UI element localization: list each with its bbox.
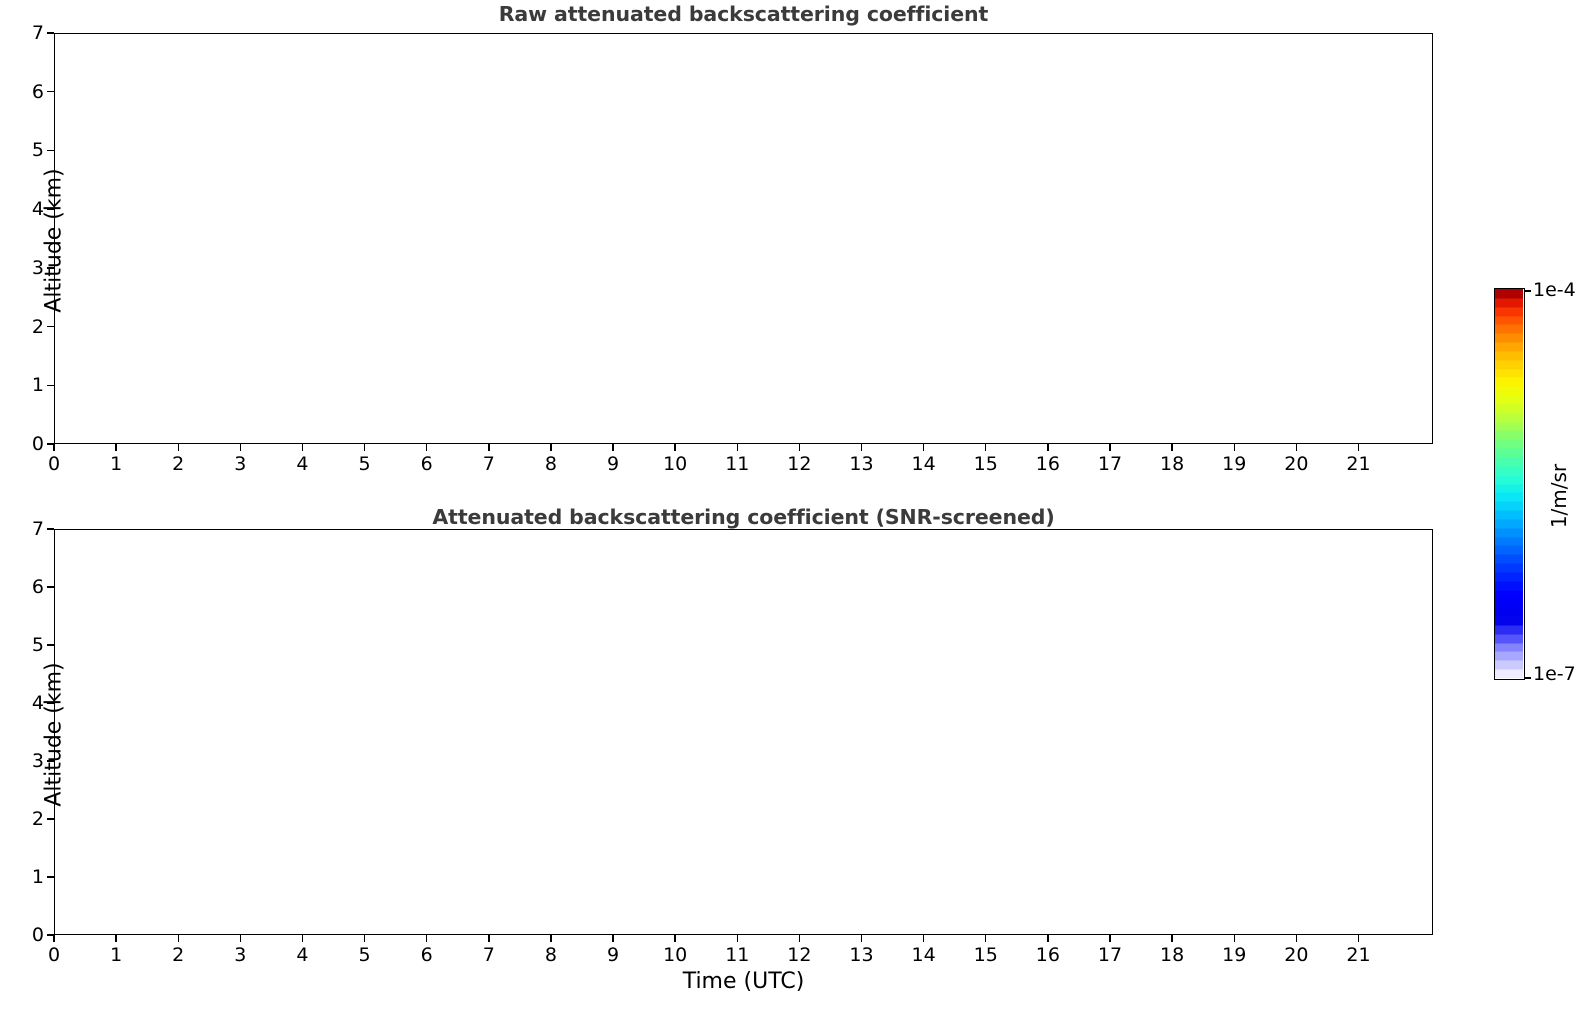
x-tick-1-2 [178,935,179,942]
x-tick-1-3 [240,935,241,942]
x-tick-label-0-10: 10 [663,453,687,475]
y-tick-label-1-0: 0 [8,924,44,946]
x-tick-0-14 [923,444,924,451]
y-axis-label-screened: Altitude (km) [42,625,67,845]
y-tick-label-1-5: 5 [8,634,44,656]
colorbar-max-label: 1e-4 [1533,279,1576,301]
x-tick-0-19 [1234,444,1235,451]
x-tick-0-21 [1358,444,1359,451]
y-tick-1-4 [47,702,54,703]
x-tick-0-2 [178,444,179,451]
colorbar-tick-min [1525,677,1531,679]
panel-title-screened: Attenuated backscattering coefficient (S… [54,505,1433,529]
x-tick-label-0-20: 20 [1284,453,1308,475]
x-tick-label-1-21: 21 [1346,944,1370,966]
x-tick-1-15 [985,935,986,942]
colorbar[interactable] [1494,288,1525,680]
heatmap-panel-raw[interactable] [54,33,1433,444]
x-tick-label-0-3: 3 [234,453,246,475]
x-tick-1-9 [612,935,613,942]
x-tick-label-0-1: 1 [110,453,122,475]
y-tick-label-1-3: 3 [8,750,44,772]
x-tick-0-18 [1171,444,1172,451]
x-tick-0-11 [737,444,738,451]
y-tick-0-5 [47,150,54,151]
x-tick-label-0-0: 0 [48,453,60,475]
x-tick-label-1-20: 20 [1284,944,1308,966]
y-tick-0-2 [47,326,54,327]
x-tick-1-18 [1171,935,1172,942]
x-tick-1-0 [53,935,54,942]
x-tick-label-1-15: 15 [974,944,998,966]
x-tick-label-1-19: 19 [1222,944,1246,966]
x-tick-label-1-4: 4 [296,944,308,966]
x-tick-0-3 [240,444,241,451]
x-tick-label-1-8: 8 [545,944,557,966]
x-tick-label-1-12: 12 [787,944,811,966]
x-tick-label-0-8: 8 [545,453,557,475]
x-tick-label-0-15: 15 [974,453,998,475]
colorbar-min-label: 1e-7 [1533,663,1576,685]
y-tick-0-1 [47,385,54,386]
y-tick-label-0-3: 3 [8,257,44,279]
x-tick-0-17 [1109,444,1110,451]
x-tick-label-0-16: 16 [1036,453,1060,475]
x-tick-label-0-19: 19 [1222,453,1246,475]
x-tick-label-0-5: 5 [359,453,371,475]
y-tick-label-0-6: 6 [8,81,44,103]
x-tick-0-9 [612,444,613,451]
x-tick-label-1-10: 10 [663,944,687,966]
x-tick-1-10 [674,935,675,942]
y-tick-label-1-2: 2 [8,808,44,830]
x-tick-1-7 [488,935,489,942]
x-tick-0-4 [302,444,303,451]
x-tick-label-0-21: 21 [1346,453,1370,475]
y-tick-label-1-4: 4 [8,692,44,714]
colorbar-tick-max [1525,290,1531,292]
x-tick-label-0-11: 11 [725,453,749,475]
x-tick-label-1-3: 3 [234,944,246,966]
y-tick-label-0-2: 2 [8,316,44,338]
y-tick-1-1 [47,876,54,877]
x-tick-label-0-2: 2 [172,453,184,475]
heatmap-canvas-raw [55,34,1431,442]
x-tick-1-14 [923,935,924,942]
panel-title-raw: Raw attenuated backscattering coefficien… [54,2,1433,26]
y-tick-0-3 [47,267,54,268]
x-tick-1-6 [426,935,427,942]
y-tick-label-0-5: 5 [8,139,44,161]
x-tick-1-1 [115,935,116,942]
heatmap-canvas-screened [55,530,1431,933]
x-tick-label-1-11: 11 [725,944,749,966]
x-tick-label-1-13: 13 [849,944,873,966]
y-tick-0-0 [47,443,54,444]
y-tick-1-0 [47,934,54,935]
x-tick-label-0-4: 4 [296,453,308,475]
y-tick-1-7 [47,528,54,529]
x-tick-1-13 [861,935,862,942]
x-tick-0-8 [550,444,551,451]
y-tick-0-4 [47,208,54,209]
y-tick-0-7 [47,32,54,33]
x-tick-1-8 [550,935,551,942]
y-tick-label-1-7: 7 [8,518,44,540]
x-tick-0-7 [488,444,489,451]
x-tick-0-5 [364,444,365,451]
y-tick-label-1-1: 1 [8,866,44,888]
x-tick-label-1-2: 2 [172,944,184,966]
x-tick-label-1-14: 14 [912,944,936,966]
x-tick-label-0-7: 7 [483,453,495,475]
x-tick-1-17 [1109,935,1110,942]
x-tick-1-16 [1047,935,1048,942]
x-tick-1-12 [799,935,800,942]
x-tick-label-1-5: 5 [359,944,371,966]
y-axis-label-raw: Altitude (km) [42,131,67,351]
x-tick-label-0-6: 6 [421,453,433,475]
x-tick-label-1-0: 0 [48,944,60,966]
x-tick-label-1-18: 18 [1160,944,1184,966]
x-tick-label-1-16: 16 [1036,944,1060,966]
y-tick-label-1-6: 6 [8,576,44,598]
x-tick-label-0-9: 9 [607,453,619,475]
lidar-figure: Raw attenuated backscattering coefficien… [0,0,1595,1020]
x-tick-label-1-6: 6 [421,944,433,966]
y-tick-label-0-4: 4 [8,198,44,220]
x-tick-0-10 [674,444,675,451]
x-tick-0-16 [1047,444,1048,451]
x-tick-1-20 [1296,935,1297,942]
x-tick-0-6 [426,444,427,451]
y-tick-label-0-7: 7 [8,22,44,44]
x-tick-label-1-17: 17 [1098,944,1122,966]
x-tick-0-0 [53,444,54,451]
x-tick-label-0-18: 18 [1160,453,1184,475]
x-tick-1-21 [1358,935,1359,942]
x-tick-1-4 [302,935,303,942]
y-tick-1-5 [47,644,54,645]
x-tick-label-0-14: 14 [912,453,936,475]
colorbar-title: 1/m/sr [1547,396,1571,596]
x-tick-label-0-12: 12 [787,453,811,475]
y-tick-label-0-1: 1 [8,374,44,396]
x-tick-0-15 [985,444,986,451]
x-axis-label: Time (UTC) [54,969,1433,994]
x-tick-label-1-9: 9 [607,944,619,966]
y-tick-1-3 [47,760,54,761]
x-tick-1-19 [1234,935,1235,942]
x-tick-label-1-7: 7 [483,944,495,966]
x-tick-label-0-17: 17 [1098,453,1122,475]
x-tick-0-1 [115,444,116,451]
x-tick-0-20 [1296,444,1297,451]
y-tick-1-2 [47,818,54,819]
x-tick-1-5 [364,935,365,942]
heatmap-panel-screened[interactable] [54,529,1433,935]
y-tick-label-0-0: 0 [8,433,44,455]
x-tick-0-13 [861,444,862,451]
x-tick-label-1-1: 1 [110,944,122,966]
x-tick-1-11 [737,935,738,942]
y-tick-0-6 [47,91,54,92]
y-tick-1-6 [47,586,54,587]
x-tick-0-12 [799,444,800,451]
colorbar-gradient [1495,289,1523,678]
x-tick-label-0-13: 13 [849,453,873,475]
